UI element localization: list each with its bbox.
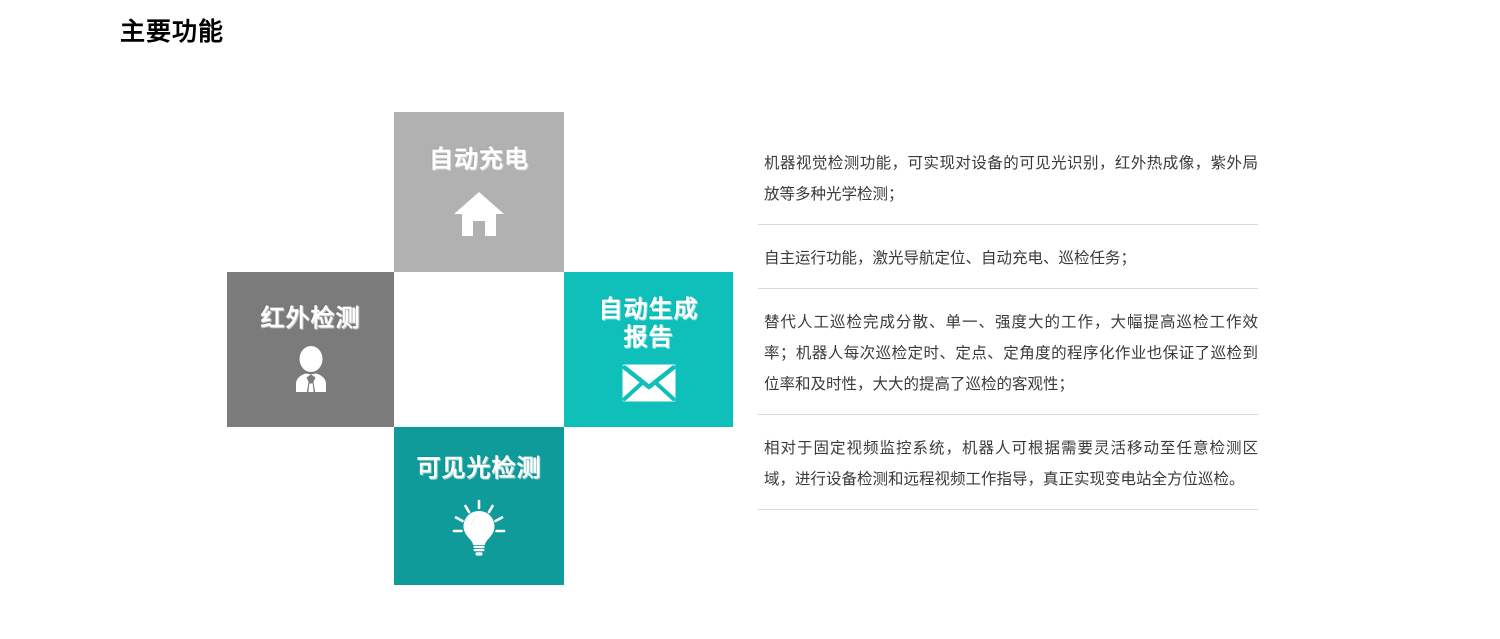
feature-description-list: 机器视觉检测功能，可实现对设备的可见光识别，红外热成像，紫外局放等多种光学检测；…: [758, 148, 1258, 510]
feature-tile-label-auto-report: 自动生成 报告: [599, 296, 699, 351]
home-icon: [452, 190, 506, 238]
feature-tile-label-infrared-detection: 红外检测: [261, 305, 361, 334]
lightbulb-icon: [449, 499, 509, 557]
feature-tile-label-auto-charge: 自动充电: [429, 146, 529, 175]
description-divider: [758, 224, 1258, 225]
description-divider: [758, 509, 1258, 510]
feature-tile-auto-charge[interactable]: 自动充电: [394, 112, 564, 272]
feature-tile-visible-light-detection[interactable]: 可见光检测: [394, 427, 564, 585]
description-item: 自主运行功能，激光导航定位、自动充电、巡检任务；: [758, 243, 1258, 289]
envelope-icon: [621, 363, 677, 403]
description-item: 机器视觉检测功能，可实现对设备的可见光识别，红外热成像，紫外局放等多种光学检测；: [758, 148, 1258, 225]
page-title: 主要功能: [120, 17, 224, 47]
description-text: 替代人工巡检完成分散、单一、强度大的工作，大幅提高巡检工作效率；机器人每次巡检定…: [758, 307, 1258, 414]
description-text: 机器视觉检测功能，可实现对设备的可见光识别，红外热成像，紫外局放等多种光学检测；: [758, 148, 1258, 224]
feature-tile-cluster: 自动充电 红外检测 自动生成 报告: [227, 112, 733, 585]
description-text: 相对于固定视频监控系统，机器人可根据需要灵活移动至任意检测区域，进行设备检测和远…: [758, 433, 1258, 509]
description-item: 替代人工巡检完成分散、单一、强度大的工作，大幅提高巡检工作效率；机器人每次巡检定…: [758, 307, 1258, 415]
description-text: 自主运行功能，激光导航定位、自动充电、巡检任务；: [758, 243, 1258, 288]
person-icon: [288, 346, 334, 394]
description-divider: [758, 414, 1258, 415]
feature-tile-infrared-detection[interactable]: 红外检测: [227, 272, 394, 427]
feature-tile-auto-report[interactable]: 自动生成 报告: [564, 272, 733, 427]
feature-tile-label-visible-light-detection: 可见光检测: [417, 455, 542, 484]
description-divider: [758, 288, 1258, 289]
description-item: 相对于固定视频监控系统，机器人可根据需要灵活移动至任意检测区域，进行设备检测和远…: [758, 433, 1258, 510]
